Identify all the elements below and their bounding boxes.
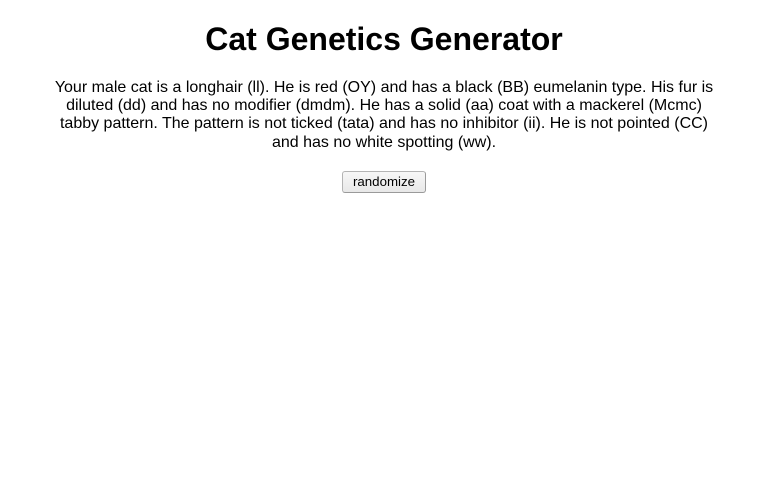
- randomize-button[interactable]: randomize: [342, 171, 426, 193]
- button-row: randomize: [0, 171, 768, 193]
- cat-description-text: Your male cat is a longhair (ll). He is …: [53, 79, 715, 152]
- page-container: Cat Genetics Generator Your male cat is …: [0, 21, 768, 193]
- page-title: Cat Genetics Generator: [0, 21, 768, 58]
